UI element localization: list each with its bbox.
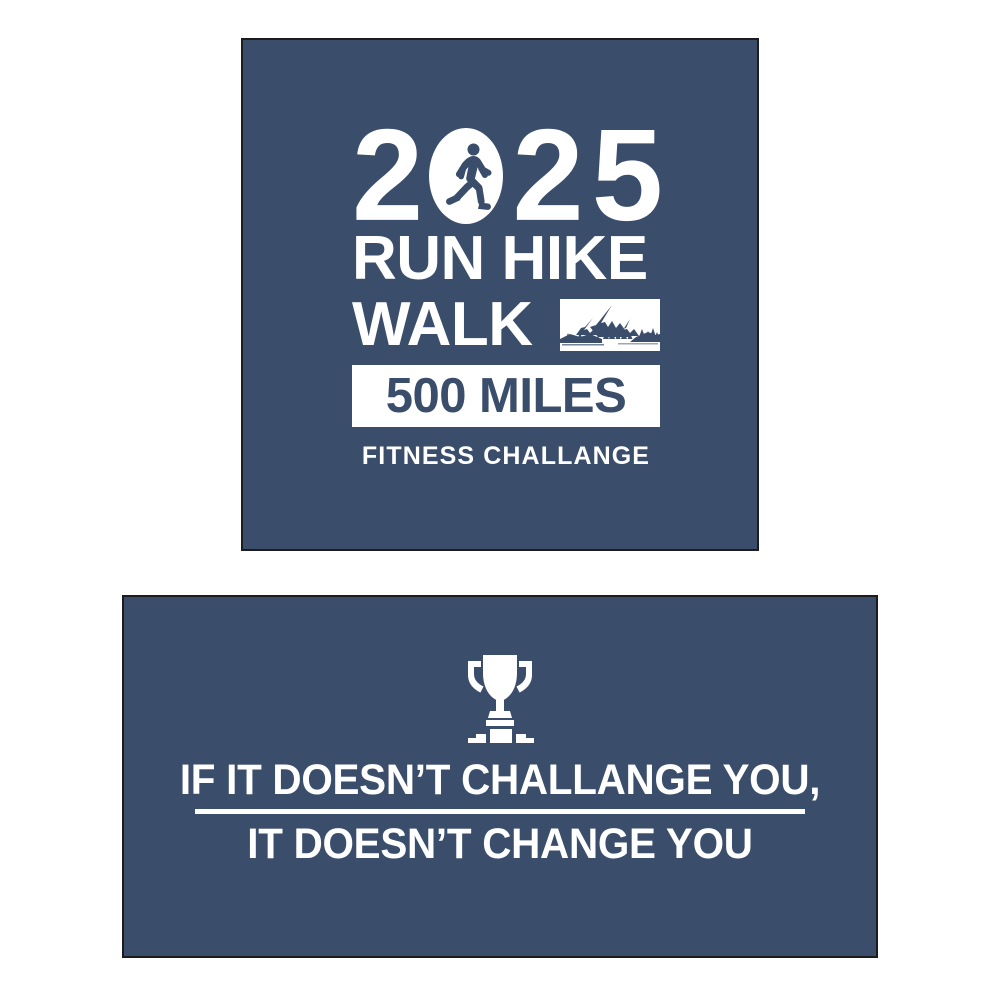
year-digit-2: 2	[352, 127, 420, 225]
mountain-landscape-icon	[560, 299, 660, 351]
motivational-quote-card: IF IT DOESN’T CHALLANGE YOU, IT DOESN’T …	[122, 595, 878, 958]
run-hike-label: RUN HIKE	[352, 224, 648, 293]
run-hike-row: RUN HIKE	[352, 230, 660, 288]
walk-row: WALK	[352, 296, 660, 354]
miles-banner: 500 MILES	[352, 365, 660, 427]
badge-content-stack: 2	[243, 40, 757, 549]
badge-subtitle-label: FITNESS CHALLANGE	[362, 442, 650, 470]
running-person-icon	[429, 128, 503, 224]
quote-line-1: IF IT DOESN’T CHALLANGE YOU,	[147, 757, 854, 803]
trophy-podium-icon	[448, 645, 552, 749]
year-2025-row: 2	[352, 128, 660, 224]
quote-line-2: IT DOESN’T CHANGE YOU	[147, 821, 854, 867]
miles-label: 500 MILES	[386, 372, 627, 421]
year-digit-5: 5	[592, 127, 660, 225]
fitness-challenge-badge-card: 2	[241, 38, 759, 551]
badge-subtitle-row: FITNESS CHALLANGE	[352, 442, 660, 470]
quote-divider-rule	[195, 809, 805, 814]
quote-text-block: IF IT DOESN’T CHALLANGE YOU, IT DOESN’T …	[124, 757, 876, 867]
walk-label: WALK	[352, 296, 533, 354]
year-digit-2b: 2	[512, 127, 580, 225]
